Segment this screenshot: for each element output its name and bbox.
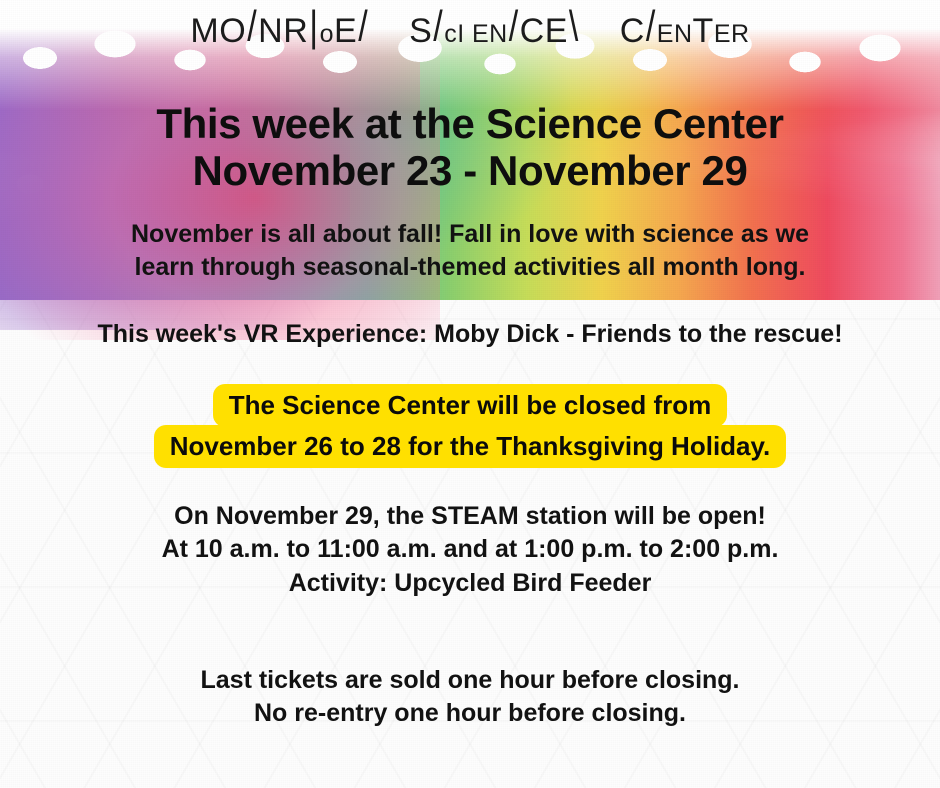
vr-experience-line-1: This week's VR Experience: Moby Dick - F… xyxy=(0,318,940,351)
intro-line-2: learn through seasonal-themed activities… xyxy=(62,251,878,284)
logo-word-monroe: MO/NR|oE/ xyxy=(190,14,369,48)
logo-glyph: I xyxy=(457,22,464,47)
logo-glyph: \ xyxy=(568,6,580,49)
steam-station-info: On November 29, the STEAM station will b… xyxy=(0,500,940,600)
closure-notice: The Science Center will be closed from N… xyxy=(0,384,940,468)
logo-glyph: T xyxy=(693,12,714,50)
intro-paragraph: November is all about fall! Fall in love… xyxy=(0,218,940,284)
logo-glyph: c xyxy=(444,22,457,47)
logo-glyph: R xyxy=(731,22,750,47)
intro-line-1: November is all about fall! Fall in love… xyxy=(62,218,878,251)
vr-experience-note: This week's VR Experience: Moby Dick - F… xyxy=(0,318,940,351)
steam-line-2: At 10 a.m. to 11:00 a.m. and at 1:00 p.m… xyxy=(0,533,940,566)
admission-policy-note: Last tickets are sold one hour before cl… xyxy=(0,664,940,731)
policy-line-1: Last tickets are sold one hour before cl… xyxy=(0,664,940,697)
logo-glyph: C xyxy=(520,12,545,50)
logo-word-science: S/cI EN/CE\ xyxy=(409,14,580,48)
logo-word-center: C/ENTER xyxy=(620,14,750,48)
steam-line-1: On November 29, the STEAM station will b… xyxy=(0,500,940,533)
logo-glyph: E xyxy=(545,12,568,50)
logo-glyph: O xyxy=(219,12,246,50)
logo-glyph: / xyxy=(246,6,258,49)
poster-content: MO/NR|oE/ S/cI EN/CE\ C/ENTER This week … xyxy=(0,0,940,788)
page-title: This week at the Science Center November… xyxy=(0,100,940,194)
logo-glyph: E xyxy=(472,22,489,47)
organization-logo-wordmark: MO/NR|oE/ S/cI EN/CE\ C/ENTER xyxy=(0,14,940,48)
logo-glyph: / xyxy=(357,6,369,49)
page-title-line-1: This week at the Science Center xyxy=(156,100,783,147)
page-title-line-2: November 23 - November 29 xyxy=(0,147,940,194)
poster-canvas: MO/NR|oE/ S/cI EN/CE\ C/ENTER This week … xyxy=(0,0,940,788)
logo-glyph: E xyxy=(714,22,731,47)
logo-glyph: E xyxy=(334,12,357,50)
steam-line-3: Activity: Upcycled Bird Feeder xyxy=(0,567,940,600)
logo-glyph: / xyxy=(432,6,444,49)
logo-glyph: M xyxy=(190,12,219,50)
logo-glyph: / xyxy=(508,6,520,49)
logo-glyph: N xyxy=(674,22,693,47)
logo-glyph xyxy=(465,12,472,50)
logo-glyph: S xyxy=(409,12,432,50)
logo-glyph: N xyxy=(489,22,508,47)
logo-glyph: N xyxy=(258,12,283,50)
policy-line-2: No re-entry one hour before closing. xyxy=(0,697,940,730)
logo-glyph: C xyxy=(620,12,645,50)
logo-glyph: / xyxy=(645,6,657,49)
logo-glyph: R xyxy=(283,12,308,50)
logo-glyph: | xyxy=(308,6,319,49)
logo-glyph: o xyxy=(320,22,334,47)
closure-notice-line-2-highlight: November 26 to 28 for the Thanksgiving H… xyxy=(154,425,787,468)
closure-notice-line-1-highlight: The Science Center will be closed from xyxy=(213,384,728,427)
logo-glyph: E xyxy=(657,22,674,47)
